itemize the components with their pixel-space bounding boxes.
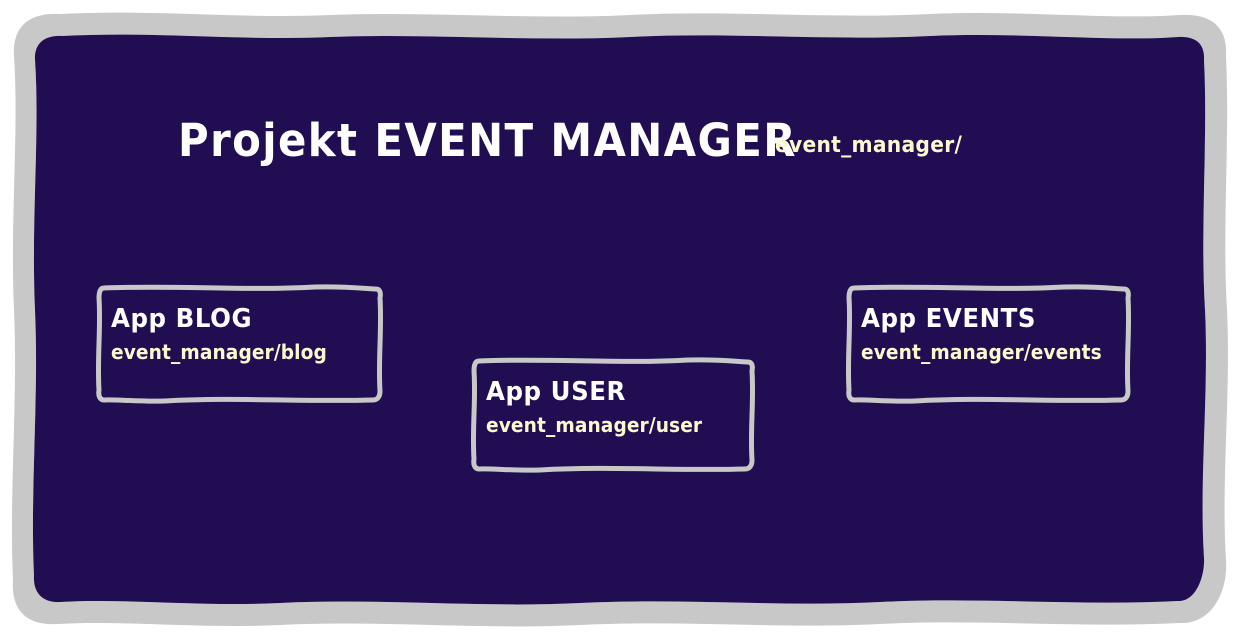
app-box-events[interactable]: App EVENTS event_manager/events: [845, 284, 1131, 404]
app-box-events-title: App EVENTS: [861, 306, 1107, 333]
app-box-blog-path: event_manager/blog: [111, 342, 357, 363]
diagram-canvas: Projekt EVENT MANAGER event_manager/ App…: [0, 0, 1239, 640]
app-box-events-text: App EVENTS event_manager/events: [861, 306, 1123, 363]
app-box-events-path: event_manager/events: [861, 342, 1105, 363]
project-path-label: event_manager/: [775, 135, 962, 157]
app-box-user[interactable]: App USER event_manager/user: [470, 357, 755, 473]
app-box-user-path: event_manager/user: [486, 415, 729, 436]
app-box-blog-text: App BLOG event_manager/blog: [111, 306, 375, 363]
app-box-user-title: App USER: [486, 379, 731, 406]
project-title: Projekt EVENT MANAGER: [178, 118, 797, 163]
app-box-blog[interactable]: App BLOG event_manager/blog: [95, 284, 383, 404]
app-box-blog-title: App BLOG: [111, 306, 359, 333]
app-box-user-text: App USER event_manager/user: [486, 379, 747, 436]
